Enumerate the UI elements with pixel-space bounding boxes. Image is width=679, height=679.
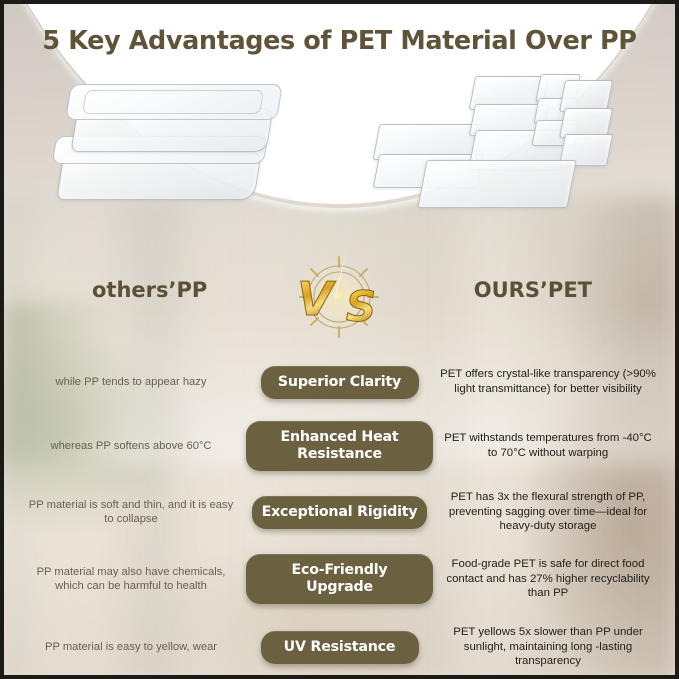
pet-advantage-text: PET has 3x the flexural strength of PP, … — [433, 490, 663, 534]
pet-advantage-text: Food-grade PET is safe for direct food c… — [433, 557, 663, 601]
pet-advantage-text: PET yellows 5x slower than PP under sunl… — [433, 625, 663, 669]
pp-container-stack-image — [50, 76, 300, 211]
feature-pill[interactable]: UV Resistance — [261, 631, 419, 664]
comparison-row: PP material is easy to yellow, wear UV R… — [16, 617, 663, 677]
comparison-row: whereas PP softens above 60°C Enhanced H… — [16, 416, 663, 476]
feature-pill[interactable]: Enhanced Heat Resistance — [246, 421, 433, 471]
vs-badge: V S — [287, 247, 391, 347]
svg-text:S: S — [346, 282, 376, 331]
pet-advantage-text: PET withstands temperatures from -40°C t… — [433, 431, 663, 460]
feature-pill[interactable]: Exceptional Rigidity — [252, 496, 428, 529]
pp-drawback-text: PP material is easy to yellow, wear — [16, 640, 246, 654]
infographic-canvas: 5 Key Advantages of PET Material Over PP… — [0, 0, 679, 679]
pp-drawback-text: while PP tends to appear hazy — [16, 375, 246, 389]
comparison-header-left: others’PP — [92, 278, 207, 302]
pp-drawback-text: PP material may also have chemicals, whi… — [16, 565, 246, 594]
feature-pill[interactable]: Eco-Friendly Upgrade — [246, 554, 433, 604]
comparison-header-right: OURS’PET — [474, 278, 592, 302]
comparison-row: PP material is soft and thin, and it is … — [16, 482, 663, 542]
svg-text:V: V — [297, 272, 336, 326]
comparison-row: while PP tends to appear hazy Superior C… — [16, 352, 663, 412]
pp-drawback-text: PP material is soft and thin, and it is … — [16, 498, 246, 527]
comparison-row: PP material may also have chemicals, whi… — [16, 549, 663, 609]
pp-drawback-text: whereas PP softens above 60°C — [16, 439, 246, 453]
pet-advantage-text: PET offers crystal-like transparency (>9… — [433, 367, 663, 396]
pet-organizer-bin-set-image — [376, 72, 644, 217]
feature-pill[interactable]: Superior Clarity — [261, 366, 419, 399]
page-title: 5 Key Advantages of PET Material Over PP — [4, 26, 675, 56]
